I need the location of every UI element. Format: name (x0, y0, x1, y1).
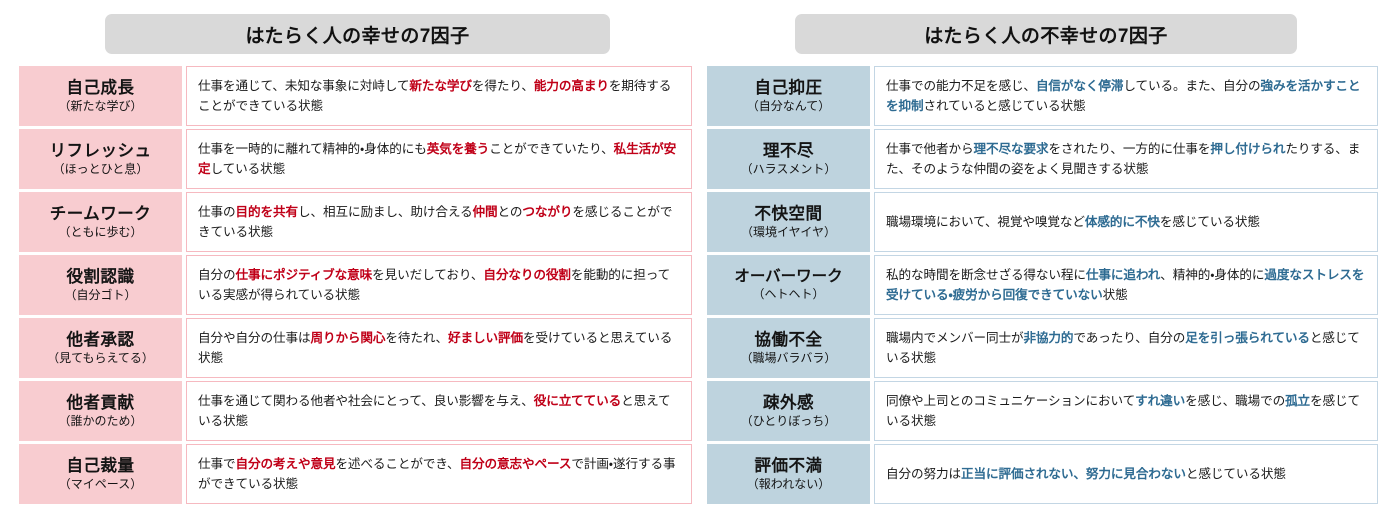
highlighted-phrase: 仕事にポジティブな意味 (235, 268, 372, 282)
factor-subtitle: （ともに歩む） (58, 226, 142, 239)
highlighted-phrase: 仲間 (473, 205, 498, 219)
factor-name: チームワーク (50, 205, 152, 223)
factor-description-text: 私的な時間を断念せざる得ない程に仕事に追われ、精神的・身体的に過度なストレスを受… (886, 265, 1368, 306)
factor-label-cell: 疎外感（ひとりぼっち） (707, 381, 870, 441)
factor-row: 疎外感（ひとりぼっち）同僚や上司とのコミュニケーションにおいてすれ違いを感じ、職… (707, 381, 1378, 444)
factor-row: 不快空間（環境イヤイヤ）職場環境において、視覚や嗅覚など体感的に不快を感じている… (707, 192, 1378, 255)
highlighted-phrase: 新たな学び (409, 79, 471, 93)
factor-description-cell: 自分の仕事にポジティブな意味を見いだしており、自分なりの役割を能動的に担っている… (186, 255, 692, 315)
highlighted-phrase: 理不尽な要求 (973, 142, 1048, 156)
factor-description-text: 仕事を一時的に離れて精神的・身体的にも英気を養うことができていたり、私生活が安定… (198, 139, 682, 180)
factor-description-text: 自分の仕事にポジティブな意味を見いだしており、自分なりの役割を能動的に担っている… (198, 265, 682, 306)
factor-subtitle: （環境イヤイヤ） (741, 226, 836, 239)
factor-row: 他者承認（見てもらえてる）自分や自分の仕事は周りから関心を待たれ、好ましい評価を… (19, 318, 692, 381)
factor-name: 不快空間 (755, 205, 823, 223)
factor-row: 協働不全（職場バラバラ）職場内でメンバー同士が非協力的であったり、自分の足を引っ… (707, 318, 1378, 381)
unhappiness-factors-panel: はたらく人の不幸せの7因子 自己抑圧（自分なんて）仕事での能力不足を感じ、自信が… (700, 0, 1400, 520)
factor-description-cell: 仕事で他者から理不尽な要求をされたり、一方的に仕事を押し付けられたりする、また、… (874, 129, 1378, 189)
factor-description-text: 職場内でメンバー同士が非協力的であったり、自分の足を引っ張られていると感じている… (886, 328, 1368, 369)
factor-description-cell: 職場内でメンバー同士が非協力的であったり、自分の足を引っ張られていると感じている… (874, 318, 1378, 378)
unhappiness-panel-header: はたらく人の不幸せの7因子 (795, 14, 1297, 54)
factor-subtitle: （新たな学び） (58, 100, 142, 113)
factor-name: 自己裁量 (67, 457, 135, 475)
factor-label-cell: 協働不全（職場バラバラ） (707, 318, 870, 378)
highlighted-phrase: 自信がなく停滞 (1036, 79, 1123, 93)
factor-subtitle: （自分なんて） (747, 100, 830, 113)
factor-row: 自己裁量（マイペース）仕事で自分の考えや意見を述べることができ、自分の意志やペー… (19, 444, 692, 507)
highlighted-phrase: 自分なりの役割 (483, 268, 570, 282)
factor-name: オーバーワーク (734, 268, 842, 285)
factor-description-cell: 仕事を通じて関わる他者や社会にとって、良い影響を与え、役に立てていると思えている… (186, 381, 692, 441)
factor-row: 役割認識（自分ゴト）自分の仕事にポジティブな意味を見いだしており、自分なりの役割… (19, 255, 692, 318)
highlighted-phrase: 強みを活かすことを抑制 (886, 79, 1360, 113)
highlighted-phrase: 押し付けられ (1210, 142, 1285, 156)
factor-description-cell: 自分の努力は正当に評価されない、努力に見合わないと感じている状態 (874, 444, 1378, 504)
factor-name: 役割認識 (67, 268, 135, 286)
factor-name: 自己成長 (67, 79, 135, 97)
factor-name: リフレッシュ (50, 142, 152, 160)
highlighted-phrase: 周りから関心 (310, 331, 385, 345)
factor-row: 自己抑圧（自分なんて）仕事での能力不足を感じ、自信がなく停滞している。また、自分… (707, 66, 1378, 129)
factor-label-cell: 他者貢献（誰かのため） (19, 381, 182, 441)
factor-description-text: 仕事での能力不足を感じ、自信がなく停滞している。また、自分の強みを活かすことを抑… (886, 76, 1368, 117)
highlighted-phrase: 孤立 (1285, 394, 1310, 408)
factor-description-cell: 自分や自分の仕事は周りから関心を待たれ、好ましい評価を受けていると思えている状態 (186, 318, 692, 378)
factor-name: 疎外感 (763, 394, 814, 412)
factor-subtitle: （見てもらえてる） (47, 352, 154, 365)
factor-description-text: 仕事の目的を共有し、相互に励まし、助け合える仲間とのつながりを感じることができて… (198, 202, 682, 243)
factor-description-text: 自分の努力は正当に評価されない、努力に見合わないと感じている状態 (886, 464, 1286, 484)
factor-description-text: 自分や自分の仕事は周りから関心を待たれ、好ましい評価を受けていると思えている状態 (198, 328, 682, 369)
unhappiness-panel-title: はたらく人の不幸せの7因子 (924, 21, 1167, 48)
factor-name: 評価不満 (755, 457, 823, 475)
factor-description-text: 仕事で自分の考えや意見を述べることができ、自分の意志やペースで計画・遂行する事が… (198, 454, 682, 495)
factor-subtitle: （自分ゴト） (64, 289, 136, 302)
highlighted-phrase: 仕事に追われ (1086, 268, 1160, 282)
factor-row: チームワーク（ともに歩む）仕事の目的を共有し、相互に励まし、助け合える仲間とのつ… (19, 192, 692, 255)
factor-subtitle: （職場バラバラ） (741, 352, 837, 365)
factor-name: 他者承認 (67, 331, 135, 349)
highlighted-phrase: 自分の考えや意見 (235, 457, 335, 471)
factor-description-cell: 同僚や上司とのコミュニケーションにおいてすれ違いを感じ、職場での孤立を感じている… (874, 381, 1378, 441)
factor-description-text: 同僚や上司とのコミュニケーションにおいてすれ違いを感じ、職場での孤立を感じている… (886, 391, 1368, 432)
factor-subtitle: （報われない） (747, 478, 830, 491)
happiness-panel-title: はたらく人の幸せの7因子 (246, 21, 470, 48)
factor-subtitle: （誰かのため） (58, 415, 142, 428)
factor-description-text: 仕事を通じて、未知な事象に対峙して新たな学びを得たり、能力の高まりを期待すること… (198, 76, 682, 117)
factor-subtitle: （ヘトヘト） (752, 288, 824, 301)
factor-row: オーバーワーク（ヘトヘト）私的な時間を断念せざる得ない程に仕事に追われ、精神的・… (707, 255, 1378, 318)
factor-subtitle: （ハラスメント） (741, 163, 837, 176)
factor-label-cell: チームワーク（ともに歩む） (19, 192, 182, 252)
factor-label-cell: 役割認識（自分ゴト） (19, 255, 182, 315)
highlighted-phrase: 好ましい評価 (448, 331, 523, 345)
factor-description-text: 仕事を通じて関わる他者や社会にとって、良い影響を与え、役に立てていると思えている… (198, 391, 682, 432)
highlighted-phrase: 役に立てている (534, 394, 621, 408)
factor-label-cell: 自己裁量（マイペース） (19, 444, 182, 504)
factor-row: リフレッシュ（ほっとひと息）仕事を一時的に離れて精神的・身体的にも英気を養うこと… (19, 129, 692, 192)
factor-description-cell: 仕事で自分の考えや意見を述べることができ、自分の意志やペースで計画・遂行する事が… (186, 444, 692, 504)
factor-name: 協働不全 (755, 331, 823, 349)
factor-name: 他者貢献 (67, 394, 135, 412)
factor-subtitle: （マイペース） (59, 478, 142, 491)
factor-description-cell: 仕事を通じて、未知な事象に対峙して新たな学びを得たり、能力の高まりを期待すること… (186, 66, 692, 126)
happiness-factors-panel: はたらく人の幸せの7因子 自己成長（新たな学び）仕事を通じて、未知な事象に対峙し… (0, 0, 700, 520)
factor-label-cell: 評価不満（報われない） (707, 444, 870, 504)
factor-label-cell: リフレッシュ（ほっとひと息） (19, 129, 182, 189)
happiness-rows: 自己成長（新たな学び）仕事を通じて、未知な事象に対峙して新たな学びを得たり、能力… (0, 66, 700, 507)
factor-description-cell: 職場環境において、視覚や嗅覚など体感的に不快を感じている状態 (874, 192, 1378, 252)
factor-subtitle: （ひとりぼっち） (741, 415, 837, 428)
factor-description-cell: 仕事を一時的に離れて精神的・身体的にも英気を養うことができていたり、私生活が安定… (186, 129, 692, 189)
factor-description-text: 仕事で他者から理不尽な要求をされたり、一方的に仕事を押し付けられたりする、また、… (886, 139, 1368, 180)
highlighted-phrase: つながり (522, 205, 572, 219)
happiness-panel-header: はたらく人の幸せの7因子 (105, 14, 610, 54)
factor-label-cell: 不快空間（環境イヤイヤ） (707, 192, 870, 252)
factor-description-cell: 仕事での能力不足を感じ、自信がなく停滞している。また、自分の強みを活かすことを抑… (874, 66, 1378, 126)
factor-label-cell: オーバーワーク（ヘトヘト） (707, 255, 870, 315)
factor-row: 自己成長（新たな学び）仕事を通じて、未知な事象に対峙して新たな学びを得たり、能力… (19, 66, 692, 129)
highlighted-phrase: 非協力的 (1023, 331, 1073, 345)
highlighted-phrase: 自分の意志やペース (460, 457, 572, 471)
factor-subtitle: （ほっとひと息） (53, 163, 149, 176)
seven-factors-diagram: はたらく人の幸せの7因子 自己成長（新たな学び）仕事を通じて、未知な事象に対峙し… (0, 0, 1400, 520)
factor-label-cell: 理不尽（ハラスメント） (707, 129, 870, 189)
highlighted-phrase: 体感的に不快 (1085, 215, 1160, 229)
unhappiness-rows: 自己抑圧（自分なんて）仕事での能力不足を感じ、自信がなく停滞している。また、自分… (700, 66, 1400, 507)
factor-row: 評価不満（報われない）自分の努力は正当に評価されない、努力に見合わないと感じてい… (707, 444, 1378, 507)
factor-name: 理不尽 (763, 142, 814, 160)
highlighted-phrase: 能力の高まり (534, 79, 609, 93)
factor-name: 自己抑圧 (755, 79, 823, 97)
highlighted-phrase: 正当に評価されない、努力に見合わない (961, 467, 1186, 481)
factor-label-cell: 他者承認（見てもらえてる） (19, 318, 182, 378)
factor-description-text: 職場環境において、視覚や嗅覚など体感的に不快を感じている状態 (886, 212, 1260, 232)
highlighted-phrase: 目的を共有 (235, 205, 297, 219)
factor-label-cell: 自己抑圧（自分なんて） (707, 66, 870, 126)
factor-row: 他者貢献（誰かのため）仕事を通じて関わる他者や社会にとって、良い影響を与え、役に… (19, 381, 692, 444)
factor-label-cell: 自己成長（新たな学び） (19, 66, 182, 126)
highlighted-phrase: 足を引っ張られている (1185, 331, 1310, 345)
highlighted-phrase: 英気を養う (427, 142, 489, 156)
factor-row: 理不尽（ハラスメント）仕事で他者から理不尽な要求をされたり、一方的に仕事を押し付… (707, 129, 1378, 192)
factor-description-cell: 私的な時間を断念せざる得ない程に仕事に追われ、精神的・身体的に過度なストレスを受… (874, 255, 1378, 315)
factor-description-cell: 仕事の目的を共有し、相互に励まし、助け合える仲間とのつながりを感じることができて… (186, 192, 692, 252)
highlighted-phrase: すれ違い (1135, 394, 1185, 408)
